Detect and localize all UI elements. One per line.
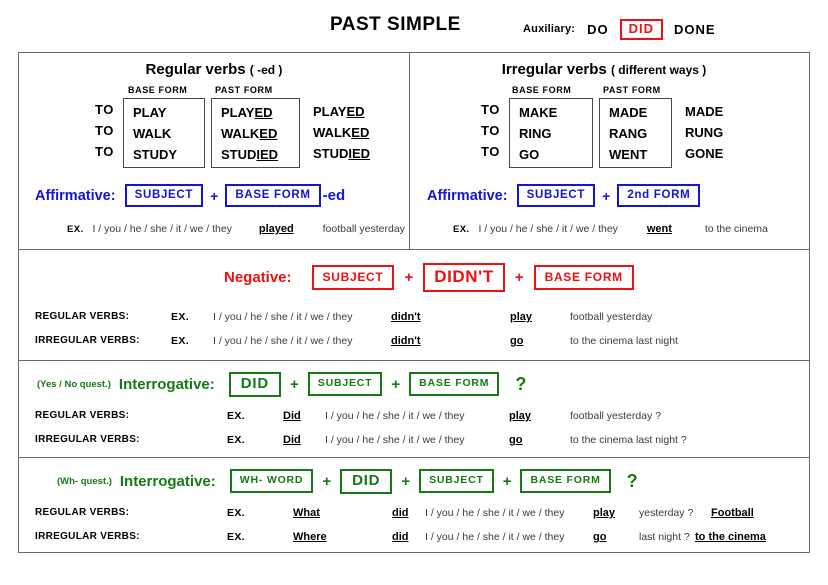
negative-plus-2: + — [515, 269, 524, 286]
regular-past-2: STUDIED — [212, 144, 299, 165]
interrogative-yesno-subject-box: SUBJECT — [308, 372, 383, 396]
negative-regular-rest: football yesterday — [570, 311, 652, 323]
irregular-affirmative-ex-rest: to the cinema — [705, 223, 768, 235]
irregular-to-0: TO — [481, 99, 500, 120]
yesno-irregular-rest: to the cinema last night ? — [570, 434, 687, 446]
interrogative-wh-question-mark: ? — [627, 471, 638, 492]
interrogative-wh-label: Interrogative: — [120, 473, 216, 490]
regular-affirmative-ex-subject: I / you / he / she / it / we / they — [92, 223, 231, 235]
irregular-affirmative-2ndform-box: 2nd FORM — [617, 184, 700, 207]
yesno-irregular-ex-tag: EX. — [227, 434, 245, 446]
irregular-affirmative-example: EX. I / you / he / she / it / we / they … — [453, 223, 768, 235]
irregular-verbs-table: BASE FORM PAST FORM TO TO TO MAKE RING G… — [409, 85, 799, 180]
page-header: PAST SIMPLE Auxiliary: DO DID DONE — [0, 14, 828, 44]
irregular-affirmative-label: Affirmative: — [427, 188, 508, 204]
auxiliary-label: Auxiliary: — [523, 23, 575, 35]
negative-regular-aux: didn't — [391, 311, 421, 323]
irregular-to-2: TO — [481, 141, 500, 162]
regular-participle-column: PLAYED WALKED STUDIED — [313, 101, 370, 164]
wh-regular-type: REGULAR VERBS: — [35, 507, 129, 518]
page-title: PAST SIMPLE — [330, 14, 461, 36]
yesno-regular-subject: I / you / he / she / it / we / they — [325, 410, 464, 422]
yesno-regular-type: REGULAR VERBS: — [35, 410, 129, 421]
negative-subject-box: SUBJECT — [312, 265, 395, 291]
negative-irregular-rest: to the cinema last night — [570, 335, 678, 347]
irregular-affirmative-plus: + — [602, 188, 610, 204]
yesno-regular-aux: Did — [283, 410, 301, 422]
negative-irregular-aux: didn't — [391, 335, 421, 347]
yesno-regular-rest: football yesterday ? — [570, 410, 661, 422]
negative-plus-1: + — [404, 269, 413, 286]
regular-pp-2: STUDIED — [313, 143, 370, 164]
wh-regular-answer: Football — [711, 507, 754, 519]
verb-forms-section: Regular verbs ( -ed ) BASE FORM PAST FOR… — [19, 53, 809, 249]
regular-to-0: TO — [95, 99, 114, 120]
irregular-participle-column: MADE RUNG GONE — [685, 101, 723, 164]
interrogative-wh-whword-box: WH- WORD — [230, 469, 314, 493]
negative-irregular-ex-tag: EX. — [171, 335, 189, 347]
interrogative-wh-qtype: (Wh- quest.) — [57, 476, 112, 487]
interrogative-yesno-plus-2: + — [391, 376, 400, 393]
irregular-pp-0: MADE — [685, 101, 723, 122]
regular-affirmative-plus: + — [210, 188, 218, 204]
wh-regular-whword: What — [293, 507, 320, 519]
irregular-affirmative-subject-box: SUBJECT — [517, 184, 596, 207]
negative-section: Negative: SUBJECT + DIDN'T + BASE FORM R… — [19, 249, 809, 360]
negative-regular-ex-tag: EX. — [171, 311, 189, 323]
wh-irregular-verb: go — [593, 531, 606, 543]
regular-base-form-box: PLAY WALK STUDY — [123, 98, 205, 168]
interrogative-wh-did-box: DID — [340, 469, 392, 494]
auxiliary-do: DO — [587, 22, 609, 37]
negative-formula: Negative: SUBJECT + DIDN'T + BASE FORM — [224, 263, 634, 292]
irregular-past-form-header: PAST FORM — [603, 85, 661, 95]
regular-affirmative-formula: Affirmative: SUBJECT + BASE FORM -ed — [35, 184, 345, 207]
negative-regular-type: REGULAR VERBS: — [35, 311, 129, 322]
irregular-affirmative-formula: Affirmative: SUBJECT + 2nd FORM — [427, 184, 700, 207]
irregular-to-1: TO — [481, 120, 500, 141]
regular-affirmative-subject-box: SUBJECT — [125, 184, 204, 207]
wh-regular-verb: play — [593, 507, 615, 519]
auxiliary-done: DONE — [674, 22, 716, 37]
irregular-past-1: RANG — [600, 123, 671, 144]
regular-affirmative-baseform-box: BASE FORM — [225, 184, 320, 207]
interrogative-yesno-baseform-box: BASE FORM — [409, 372, 499, 396]
regular-affirmative-example: EX. I / you / he / she / it / we / they … — [67, 223, 405, 235]
wh-irregular-aux: did — [392, 531, 409, 543]
regular-verbs-table: BASE FORM PAST FORM TO TO TO PLAY WALK S… — [19, 85, 409, 180]
negative-label: Negative: — [224, 269, 292, 286]
irregular-base-0: MAKE — [510, 102, 592, 123]
regular-affirmative-ex-tag: EX. — [67, 224, 84, 235]
regular-past-1: WALKED — [212, 123, 299, 144]
yesno-regular-verb: play — [509, 410, 531, 422]
interrogative-yesno-question-mark: ? — [515, 374, 526, 395]
irregular-past-2: WENT — [600, 144, 671, 165]
irregular-pp-1: RUNG — [685, 122, 723, 143]
regular-base-form-header: BASE FORM — [128, 85, 187, 95]
irregular-pp-2: GONE — [685, 143, 723, 164]
interrogative-wh-formula: (Wh- quest.) Interrogative: WH- WORD + D… — [57, 469, 638, 494]
interrogative-wh-subject-box: SUBJECT — [419, 469, 494, 493]
regular-past-0: PLAYED — [212, 102, 299, 123]
negative-regular-subject: I / you / he / she / it / we / they — [213, 311, 352, 323]
auxiliary-group: Auxiliary: DO DID DONE — [523, 19, 716, 40]
regular-affirmative-ex-verb: played — [259, 223, 294, 235]
regular-past-form-box: PLAYED WALKED STUDIED — [211, 98, 300, 168]
interrogative-yesno-plus-1: + — [290, 376, 299, 393]
interrogative-wh-section: (Wh- quest.) Interrogative: WH- WORD + D… — [19, 457, 809, 554]
yesno-irregular-subject: I / you / he / she / it / we / they — [325, 434, 464, 446]
irregular-verbs-title-text: Irregular verbs — [502, 61, 607, 78]
regular-base-1: WALK — [124, 123, 204, 144]
wh-irregular-rest: last night ? — [639, 531, 690, 543]
irregular-base-2: GO — [510, 144, 592, 165]
irregular-verbs-title: Irregular verbs ( different ways ) — [409, 61, 799, 78]
regular-pp-1: WALKED — [313, 122, 370, 143]
interrogative-yesno-section: (Yes / No quest.) Interrogative: DID + S… — [19, 360, 809, 457]
irregular-affirmative-ex-verb: went — [647, 223, 672, 235]
yesno-irregular-verb: go — [509, 434, 522, 446]
negative-irregular-verb: go — [510, 335, 523, 347]
negative-irregular-subject: I / you / he / she / it / we / they — [213, 335, 352, 347]
regular-verbs-panel: Regular verbs ( -ed ) BASE FORM PAST FOR… — [19, 53, 409, 249]
wh-irregular-ex-tag: EX. — [227, 531, 245, 543]
interrogative-wh-plus-2: + — [401, 473, 410, 490]
interrogative-yesno-did-box: DID — [229, 372, 281, 397]
irregular-base-form-box: MAKE RING GO — [509, 98, 593, 168]
negative-baseform-box: BASE FORM — [534, 265, 634, 291]
regular-pp-0: PLAYED — [313, 101, 370, 122]
negative-regular-verb: play — [510, 311, 532, 323]
regular-to-2: TO — [95, 141, 114, 162]
wh-regular-rest: yesterday ? — [639, 507, 693, 519]
wh-regular-ex-tag: EX. — [227, 507, 245, 519]
regular-affirmative-ex-rest: football yesterday — [323, 223, 405, 235]
irregular-past-form-box: MADE RANG WENT — [599, 98, 672, 168]
negative-didnt-box: DIDN'T — [423, 263, 505, 292]
negative-irregular-type: IRREGULAR VERBS: — [35, 335, 140, 346]
regular-past-form-header: PAST FORM — [215, 85, 273, 95]
yesno-irregular-aux: Did — [283, 434, 301, 446]
regular-base-0: PLAY — [124, 102, 204, 123]
yesno-irregular-type: IRREGULAR VERBS: — [35, 434, 140, 445]
wh-regular-aux: did — [392, 507, 409, 519]
irregular-affirmative-ex-tag: EX. — [453, 224, 470, 235]
interrogative-yesno-qtype: (Yes / No quest.) — [37, 379, 111, 390]
interrogative-yesno-label: Interrogative: — [119, 376, 215, 393]
regular-base-2: STUDY — [124, 144, 204, 165]
wh-irregular-answer: to the cinema — [695, 531, 766, 543]
regular-to-1: TO — [95, 120, 114, 141]
interrogative-wh-plus-1: + — [322, 473, 331, 490]
interrogative-wh-baseform-box: BASE FORM — [520, 469, 610, 493]
regular-affirmative-suffix: -ed — [323, 187, 346, 204]
regular-verbs-title: Regular verbs ( -ed ) — [19, 61, 409, 78]
irregular-verbs-panel: Irregular verbs ( different ways ) BASE … — [409, 53, 799, 249]
regular-verbs-title-text: Regular verbs — [146, 61, 246, 78]
irregular-verbs-title-note: ( different ways ) — [611, 63, 706, 77]
grammar-chart-frame: Regular verbs ( -ed ) BASE FORM PAST FOR… — [18, 52, 810, 553]
wh-irregular-subject: I / you / he / she / it / we / they — [425, 531, 564, 543]
interrogative-wh-plus-3: + — [503, 473, 512, 490]
regular-verbs-title-note: ( -ed ) — [250, 63, 283, 77]
wh-regular-subject: I / you / he / she / it / we / they — [425, 507, 564, 519]
irregular-base-1: RING — [510, 123, 592, 144]
interrogative-yesno-formula: (Yes / No quest.) Interrogative: DID + S… — [37, 372, 526, 397]
regular-affirmative-label: Affirmative: — [35, 188, 116, 204]
irregular-base-form-header: BASE FORM — [512, 85, 571, 95]
auxiliary-did-highlight: DID — [620, 19, 663, 40]
wh-irregular-type: IRREGULAR VERBS: — [35, 531, 140, 542]
irregular-past-0: MADE — [600, 102, 671, 123]
irregular-affirmative-ex-subject: I / you / he / she / it / we / they — [478, 223, 617, 235]
yesno-regular-ex-tag: EX. — [227, 410, 245, 422]
wh-irregular-whword: Where — [293, 531, 327, 543]
